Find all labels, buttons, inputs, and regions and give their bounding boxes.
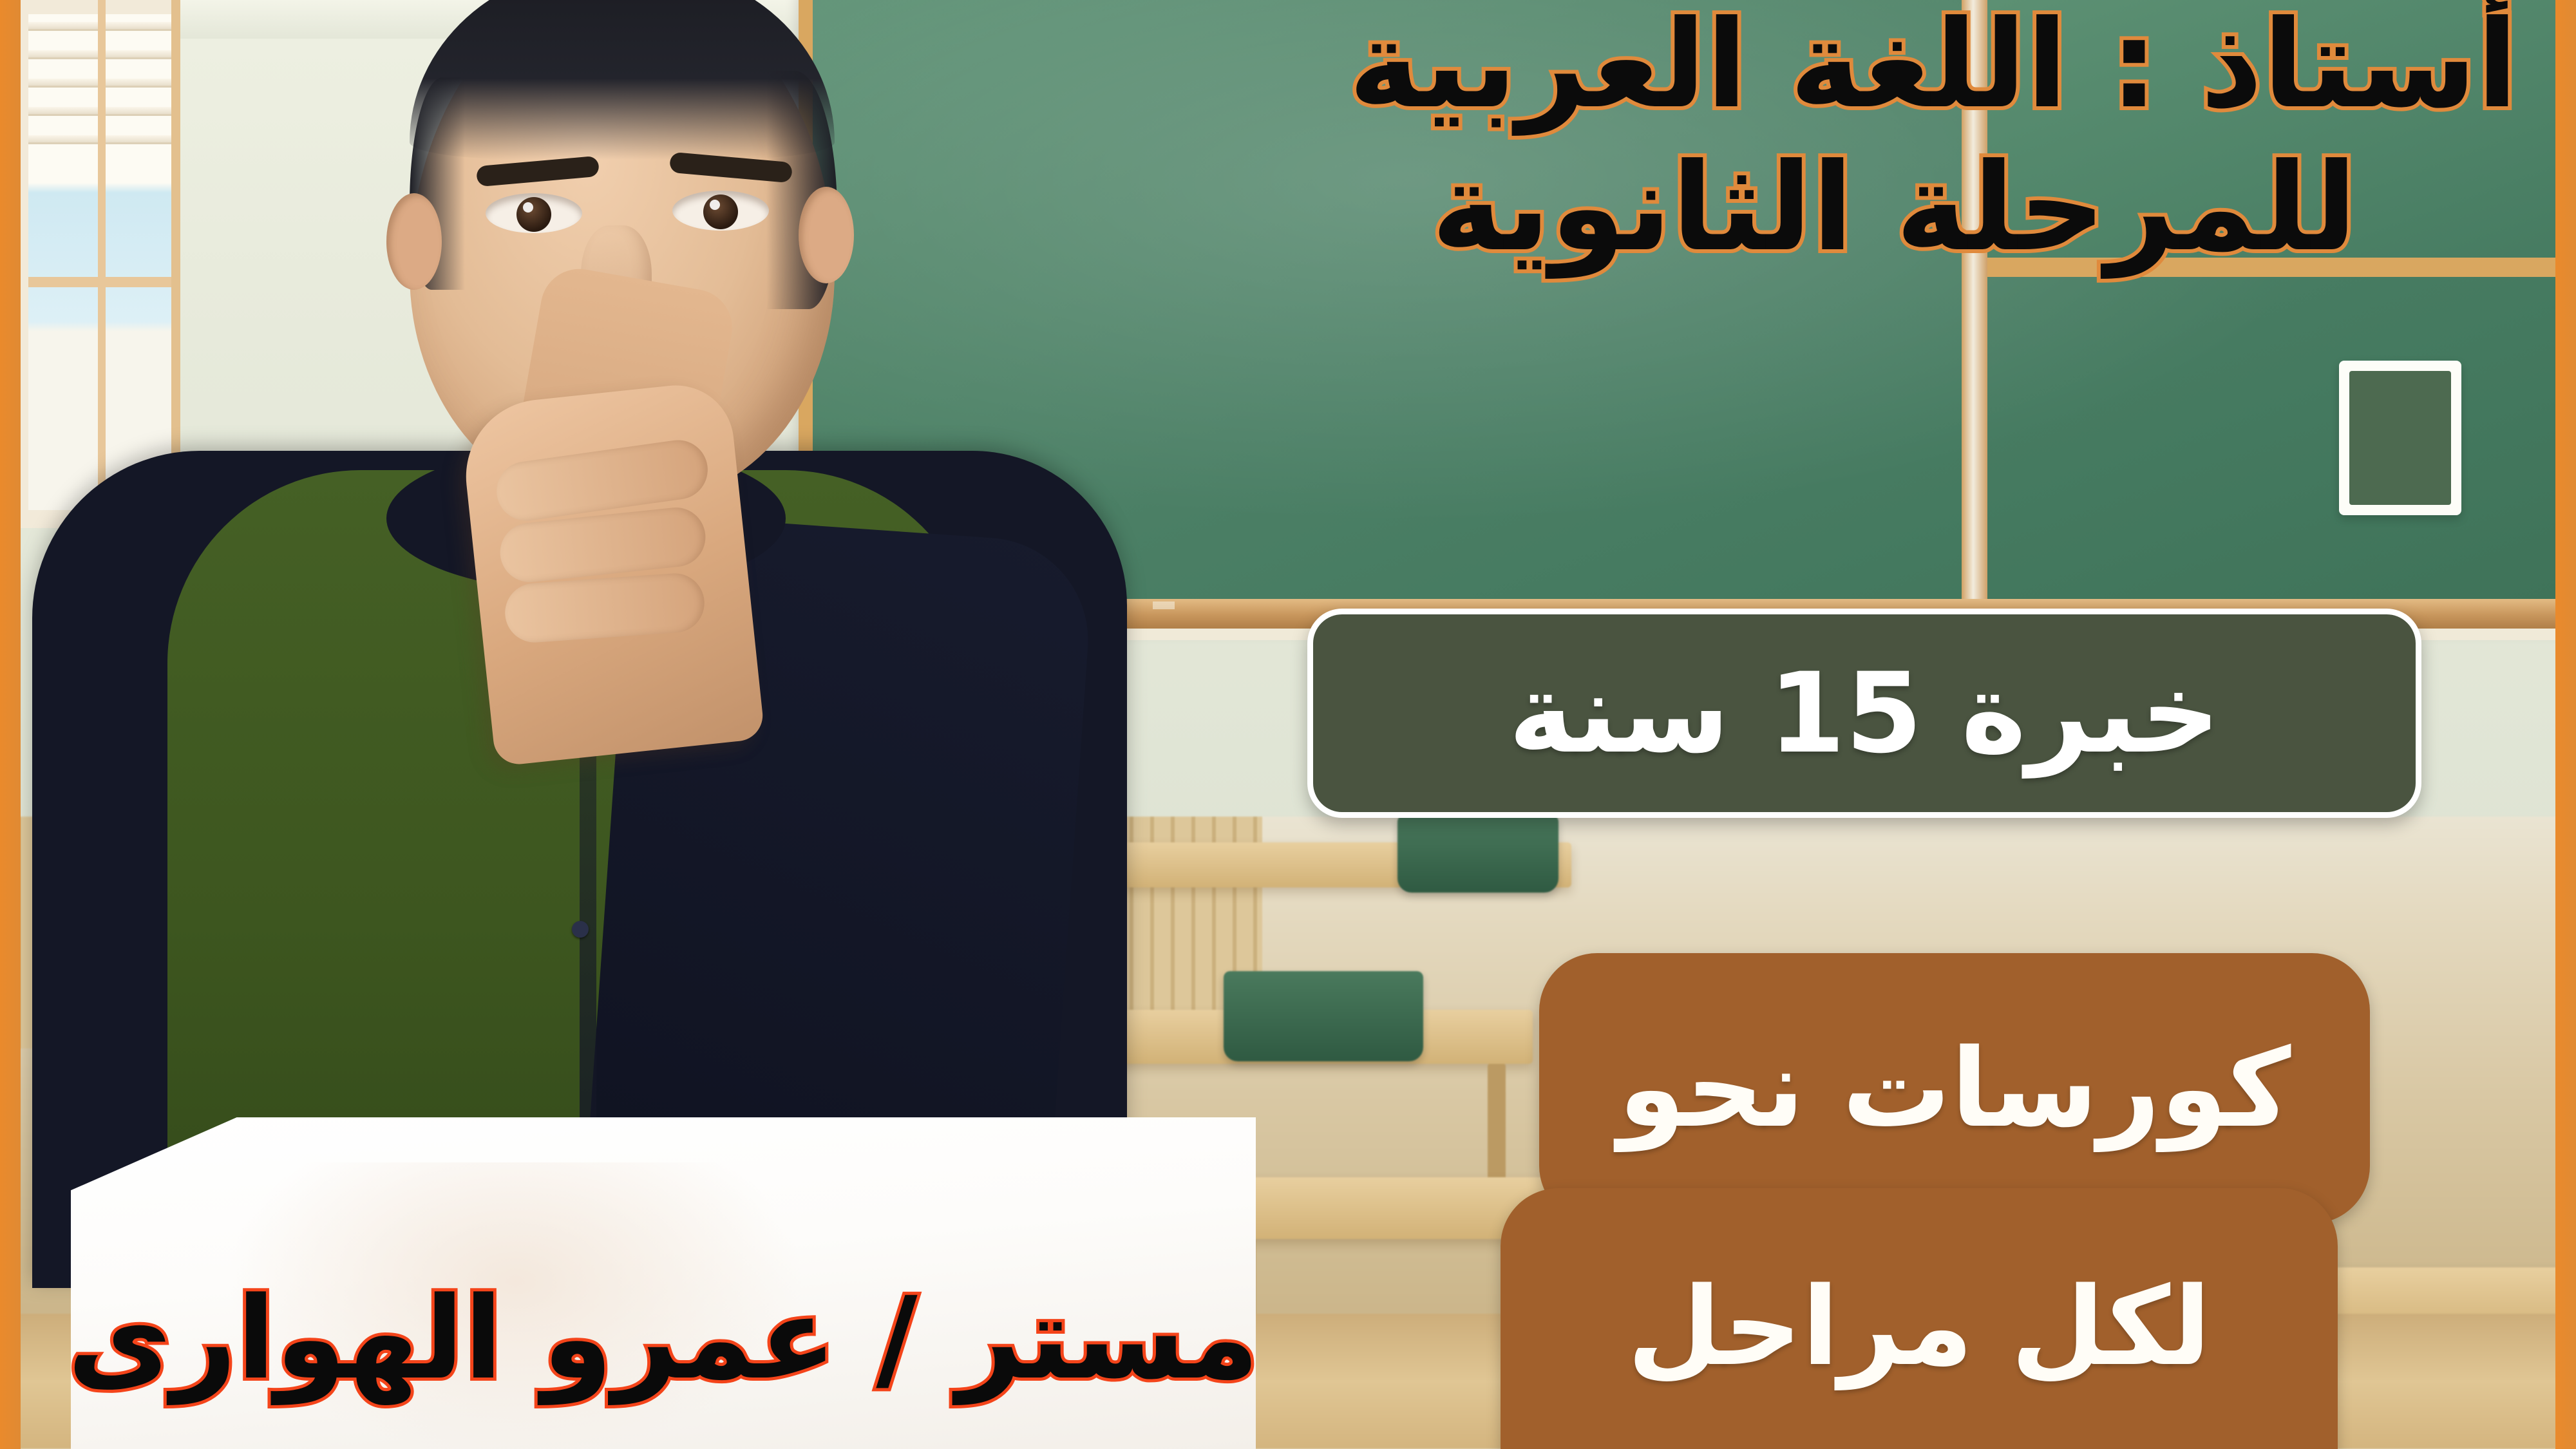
courses-badge-label: كورسات نحو [1618, 1025, 2291, 1151]
board-sign [2339, 361, 2461, 515]
stages-badge: لكل مراحل [1501, 1188, 2338, 1449]
eye-left [486, 193, 582, 233]
headline-line-2: للمرحلة الثانوية [779, 137, 2518, 279]
page-title: أستاذ : اللغة العربية للمرحلة الثانوية [779, 0, 2518, 279]
seat [1224, 971, 1423, 1061]
instructor-name-card: مستر / عمرو الهوارى [71, 1117, 1256, 1449]
headline-line-1: أستاذ : اللغة العربية [1349, 0, 2518, 135]
eye-right [672, 191, 769, 231]
left-frame-edge [0, 0, 21, 1449]
experience-badge: خبرة 15 سنة [1307, 609, 2421, 818]
iris-left [516, 197, 551, 232]
experience-badge-label: خبرة 15 سنة [1508, 649, 2221, 778]
stages-badge-label: لكل مراحل [1627, 1264, 2211, 1390]
iris-right [703, 194, 738, 229]
instructor-name: مستر / عمرو الهوارى [68, 1273, 1260, 1405]
courses-badge: كورسات نحو [1539, 953, 2370, 1224]
right-frame-edge [2555, 0, 2576, 1449]
board-sign-inner [2349, 371, 2451, 505]
poster-canvas: أستاذ : اللغة العربية للمرحلة الثانوية خ… [0, 0, 2576, 1449]
ear-left [386, 193, 442, 290]
seat [1397, 817, 1558, 893]
vest-button [572, 921, 589, 938]
